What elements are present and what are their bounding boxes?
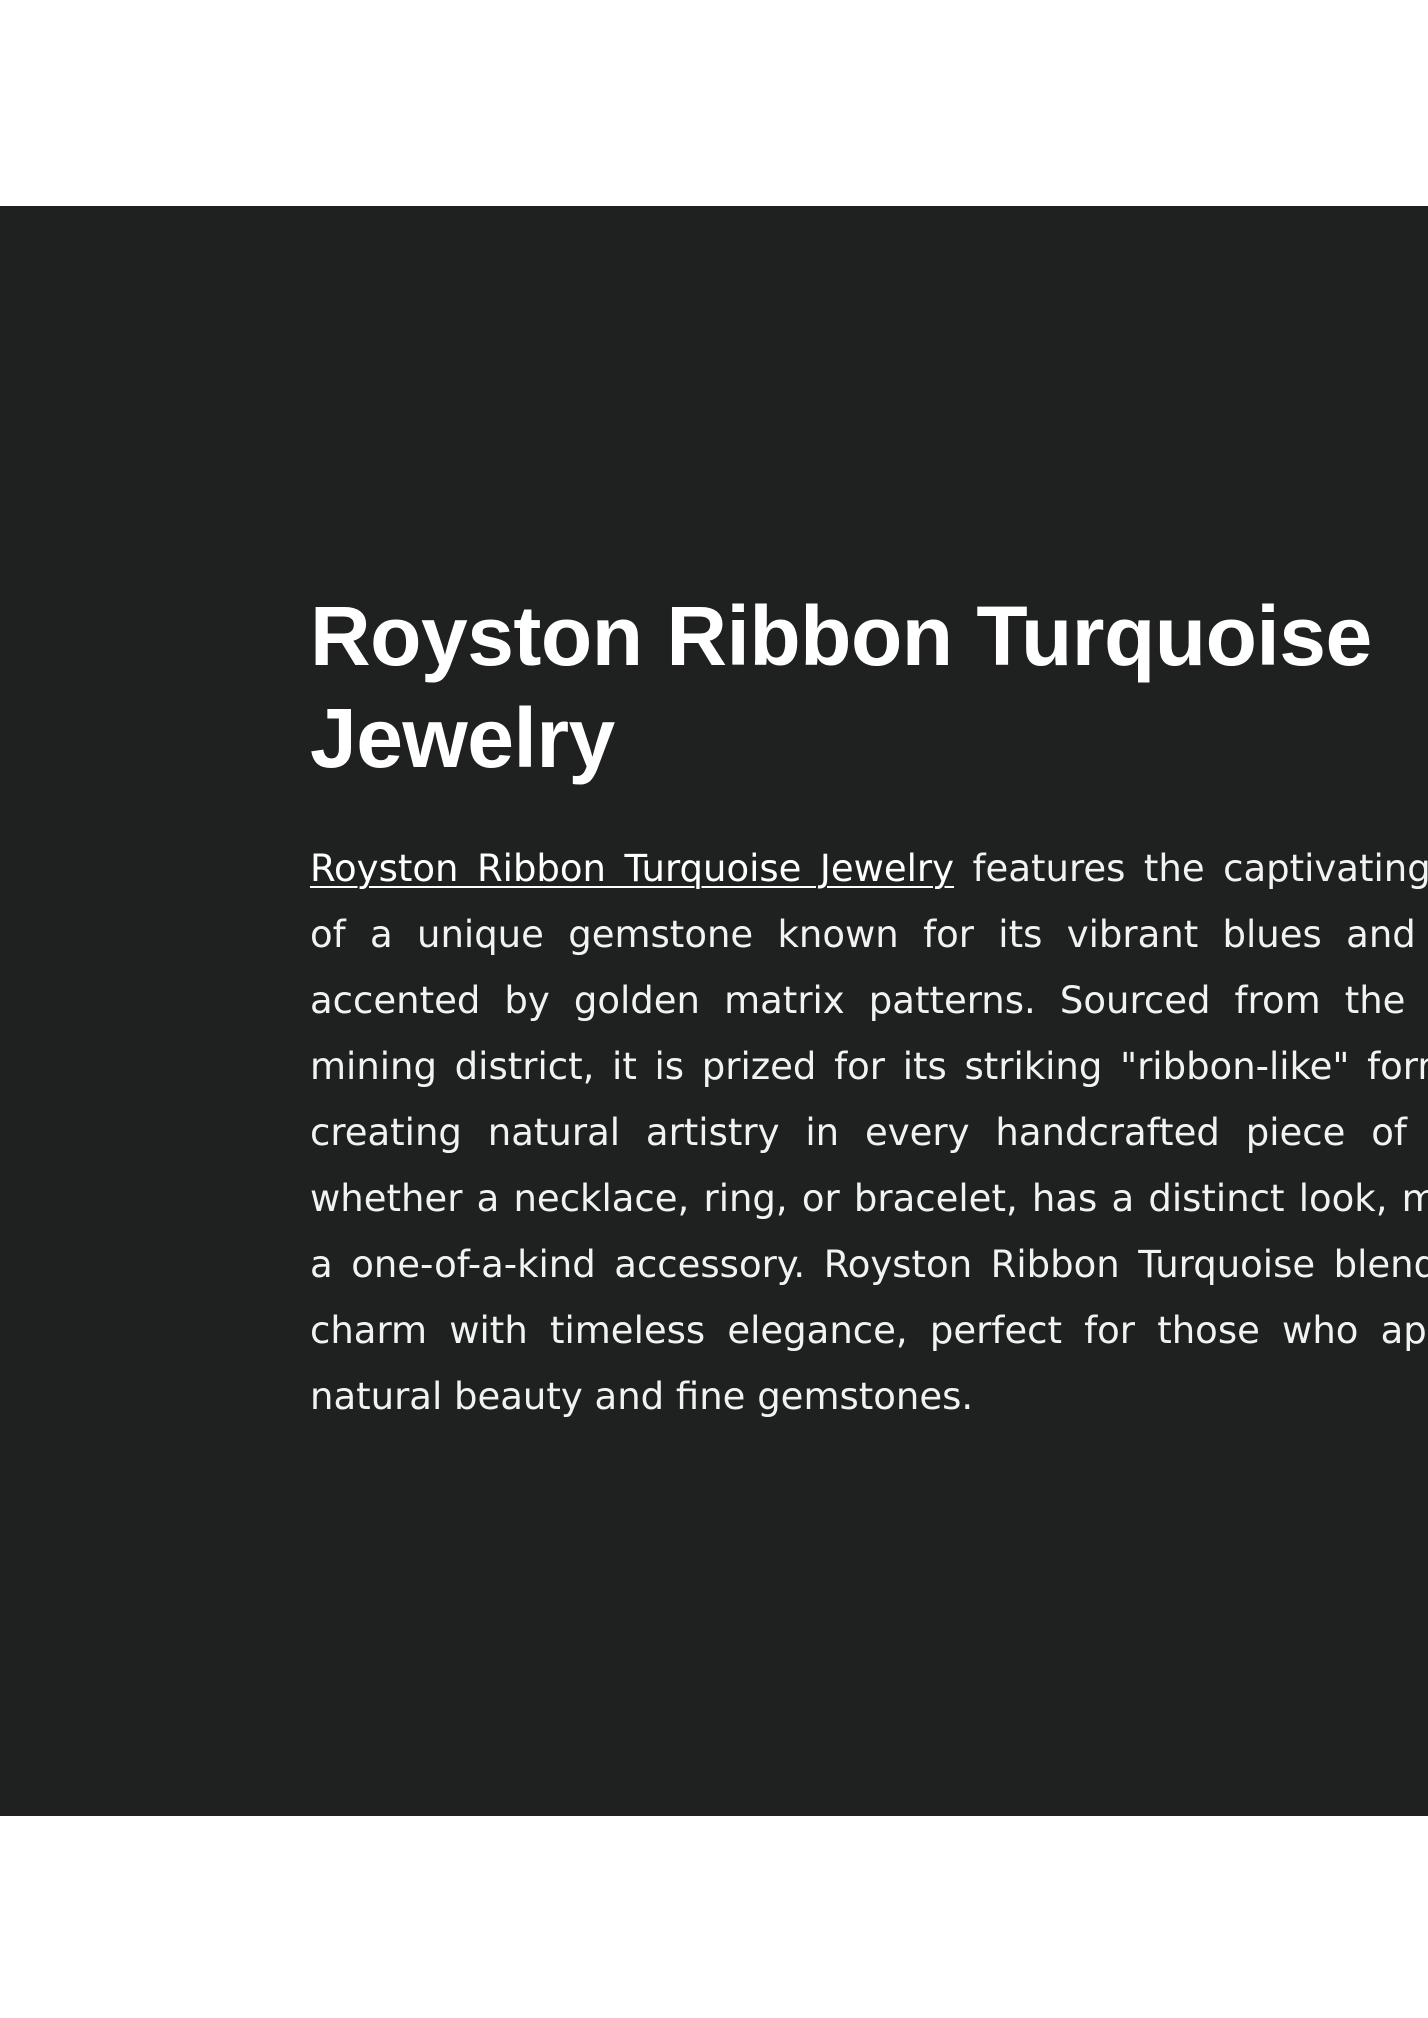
article-body-text: features the captivating beauty of a uni… <box>310 847 1428 1418</box>
page-title: Royston Ribbon Turquoise Jewelry <box>310 585 1428 790</box>
article-body-paragraph: Royston Ribbon Turquoise Jewelry feature… <box>310 836 1428 1430</box>
dark-content-panel: Royston Ribbon Turquoise Jewelry Royston… <box>0 206 1428 1816</box>
royston-ribbon-turquoise-jewelry-link[interactable]: Royston Ribbon Turquoise Jewelry <box>310 847 954 890</box>
article-content-column: Royston Ribbon Turquoise Jewelry Royston… <box>310 585 1428 1430</box>
page-root: Royston Ribbon Turquoise Jewelry Royston… <box>0 0 1428 2018</box>
